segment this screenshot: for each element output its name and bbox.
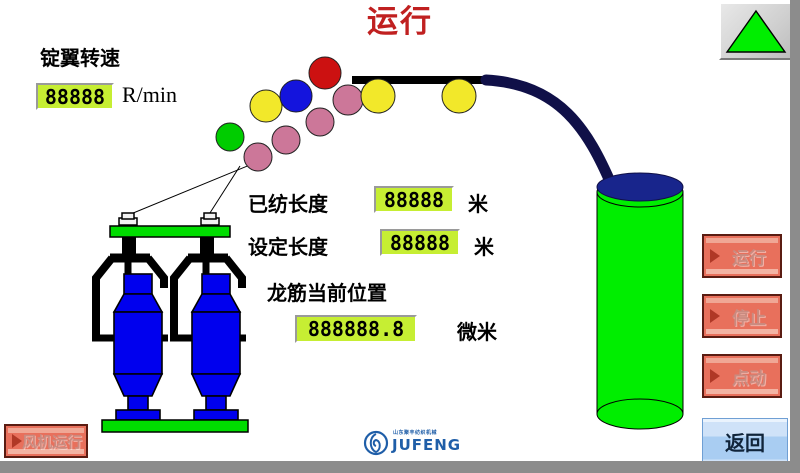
flyer-speed-unit: R/min <box>122 82 177 108</box>
spun-length-label: 已纺长度 <box>248 188 328 217</box>
rail-position-label: 龙筋当前位置 <box>267 277 387 306</box>
bobbin-pink-3 <box>306 108 334 136</box>
sliver-can <box>597 173 683 429</box>
right-bar <box>790 0 800 473</box>
bobbin-yellow-1 <box>250 90 282 122</box>
run-button[interactable]: 运行 <box>702 234 782 278</box>
bobbin-pink-1 <box>244 143 272 171</box>
flyer-arms-left <box>92 237 168 340</box>
run-button-label: 运行 <box>718 244 766 269</box>
can-lid <box>597 173 683 201</box>
top-rail <box>352 76 492 84</box>
flyer-arms-right <box>170 237 246 340</box>
fan-status-label: 风机运行 <box>10 431 82 452</box>
hmi-screen: 运行 锭翼转速 88888 R/min 已纺长度 88888 米 设定长度 88… <box>0 0 800 473</box>
stop-button-label: 停止 <box>718 304 766 329</box>
spindle-top-rail <box>110 226 230 237</box>
set-length-value[interactable]: 88888 <box>380 229 460 256</box>
bobbin-blue <box>280 80 312 112</box>
green-triangle-up-icon <box>724 8 788 56</box>
bobbin-red <box>309 57 341 89</box>
bobbin-body-left <box>114 274 162 420</box>
logo-brand: JUFENG <box>392 436 461 454</box>
spun-length-value[interactable]: 88888 <box>374 186 454 213</box>
logo-subtext: 山东聚丰纺织机械 <box>393 429 437 436</box>
jog-button-label: 点动 <box>718 364 766 389</box>
bobbin-yellow-3 <box>442 79 476 113</box>
rail-position-value[interactable]: 888888.8 <box>295 315 417 343</box>
spindle-bottom-rail <box>102 420 248 432</box>
page-title: 运行 <box>330 0 470 44</box>
set-length-unit: 米 <box>474 231 494 260</box>
fan-status-button[interactable]: 风机运行 <box>4 424 88 458</box>
spindle-caps <box>119 213 219 225</box>
bobbin-pink-4 <box>333 85 363 115</box>
scroll-up-button[interactable] <box>719 2 793 60</box>
yarn-path <box>486 80 612 186</box>
guide-wires <box>126 160 262 216</box>
flyer-speed-label: 锭翼转速 <box>40 42 120 71</box>
back-button[interactable]: 返回 <box>702 418 788 464</box>
jog-button[interactable]: 点动 <box>702 354 782 398</box>
bobbin-pink-2 <box>272 126 300 154</box>
bobbin-green <box>216 123 244 151</box>
bobbin-yellow-2 <box>361 79 395 113</box>
flyer-speed-value[interactable]: 88888 <box>36 83 114 110</box>
spun-length-unit: 米 <box>468 188 488 217</box>
bobbin-body-right <box>192 274 240 420</box>
rail-position-unit: 微米 <box>457 316 497 345</box>
stop-button[interactable]: 停止 <box>702 294 782 338</box>
set-length-label: 设定长度 <box>248 231 328 260</box>
bobbin-circles <box>216 57 476 171</box>
bottom-bar <box>0 461 800 473</box>
